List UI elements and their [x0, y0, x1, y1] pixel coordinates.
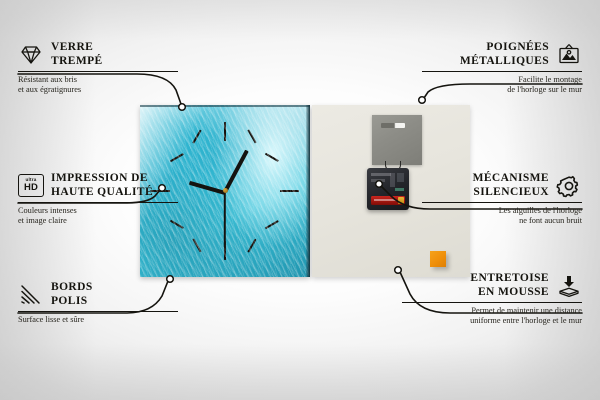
feature-header: VERRE TREMPÉ	[18, 41, 178, 68]
feature-subtitle: Résistant aux bris et aux égratignures	[18, 75, 178, 96]
feature-title-line1: POIGNÉES	[486, 41, 549, 53]
feature-subtitle-line2: uniforme entre l'horloge et le mur	[470, 316, 582, 325]
feature-title-line2: SILENCIEUX	[473, 186, 549, 198]
feature-subtitle-line1: Résistant aux bris	[18, 75, 77, 84]
feature-subtitle-line1: Facilite le montage	[518, 75, 582, 84]
feature-title: BORDS POLIS	[51, 281, 93, 308]
feature-header: BORDS POLIS	[18, 281, 178, 308]
feature-verre-trempe: VERRE TREMPÉ Résistant aux bris et aux é…	[18, 41, 178, 96]
feature-subtitle: Facilite le montage de l'horloge sur le …	[422, 75, 582, 96]
feature-title-line1: BORDS	[51, 281, 93, 293]
feature-title-line2: HAUTE QUALITÉ	[51, 186, 153, 198]
feature-title: IMPRESSION DE HAUTE QUALITÉ	[51, 172, 153, 199]
feature-header: ultra HD IMPRESSION DE HAUTE QUALITÉ	[18, 172, 178, 199]
feature-title: VERRE TREMPÉ	[51, 41, 103, 68]
feature-rule	[18, 71, 178, 72]
feature-title: ENTRETOISE EN MOUSSE	[470, 272, 549, 299]
feature-entretoise-en-mousse: ENTRETOISE EN MOUSSE Permet de maintenir…	[402, 272, 582, 327]
endpoint-marker-mecanisme	[376, 181, 383, 188]
feature-poignees-metalliques: POIGNÉES MÉTALLIQUES Facilite le montage…	[422, 41, 582, 96]
foam-spacer-icon	[556, 274, 582, 298]
ultra-hd-icon-main-text: HD	[24, 183, 38, 193]
gear-icon	[556, 174, 582, 198]
feature-subtitle-line1: Surface lisse et sûre	[18, 315, 84, 324]
feature-title: MÉCANISME SILENCIEUX	[473, 172, 549, 199]
endpoint-marker-poignees	[419, 97, 426, 104]
picture-hanger-icon	[556, 43, 582, 67]
feature-subtitle: Les aiguilles de l'horloge ne font aucun…	[422, 206, 582, 227]
feature-header: ENTRETOISE EN MOUSSE	[402, 272, 582, 299]
endpoint-marker-verre-trempe	[179, 104, 186, 111]
feature-rule	[18, 311, 178, 312]
feature-header: MÉCANISME SILENCIEUX	[422, 172, 582, 199]
feature-bords-polis: BORDS POLIS Surface lisse et sûre	[18, 281, 178, 325]
feature-subtitle-line1: Les aiguilles de l'horloge	[499, 206, 582, 215]
feature-subtitle-line2: ne font aucun bruit	[519, 216, 582, 225]
feature-subtitle-line2: et image claire	[18, 216, 67, 225]
feature-title-line2: TREMPÉ	[51, 55, 103, 67]
diamond-icon	[18, 43, 44, 67]
feature-title-line1: MÉCANISME	[473, 172, 549, 184]
feature-title: POIGNÉES MÉTALLIQUES	[460, 41, 549, 68]
feature-subtitle: Couleurs intenses et image claire	[18, 206, 178, 227]
feature-subtitle: Permet de maintenir une distance uniform…	[402, 306, 582, 327]
feature-rule	[18, 202, 178, 203]
feature-rule	[422, 71, 582, 72]
feature-mecanisme-silencieux: MÉCANISME SILENCIEUX Les aiguilles de l'…	[422, 172, 582, 227]
feature-subtitle-line1: Couleurs intenses	[18, 206, 77, 215]
feature-title-line1: VERRE	[51, 41, 93, 53]
feature-title-line1: ENTRETOISE	[470, 272, 549, 284]
polished-edges-icon	[18, 283, 44, 307]
infographic-canvas: VERRE TREMPÉ Résistant aux bris et aux é…	[0, 0, 600, 400]
feature-header: POIGNÉES MÉTALLIQUES	[422, 41, 582, 68]
feature-title-line2: MÉTALLIQUES	[460, 55, 549, 67]
feature-subtitle-line2: de l'horloge sur le mur	[507, 85, 582, 94]
ultra-hd-icon: ultra HD	[18, 174, 44, 197]
feature-title-line2: POLIS	[51, 295, 88, 307]
feature-subtitle-line2: et aux égratignures	[18, 85, 81, 94]
feature-impression-haute-qualite: ultra HD IMPRESSION DE HAUTE QUALITÉ Cou…	[18, 172, 178, 227]
feature-rule	[402, 302, 582, 303]
feature-title-line2: EN MOUSSE	[478, 286, 549, 298]
feature-subtitle-line1: Permet de maintenir une distance	[471, 306, 582, 315]
feature-rule	[422, 202, 582, 203]
endpoint-marker-entretoise	[395, 267, 402, 274]
feature-subtitle: Surface lisse et sûre	[18, 315, 178, 325]
feature-title-line1: IMPRESSION DE	[51, 172, 148, 184]
